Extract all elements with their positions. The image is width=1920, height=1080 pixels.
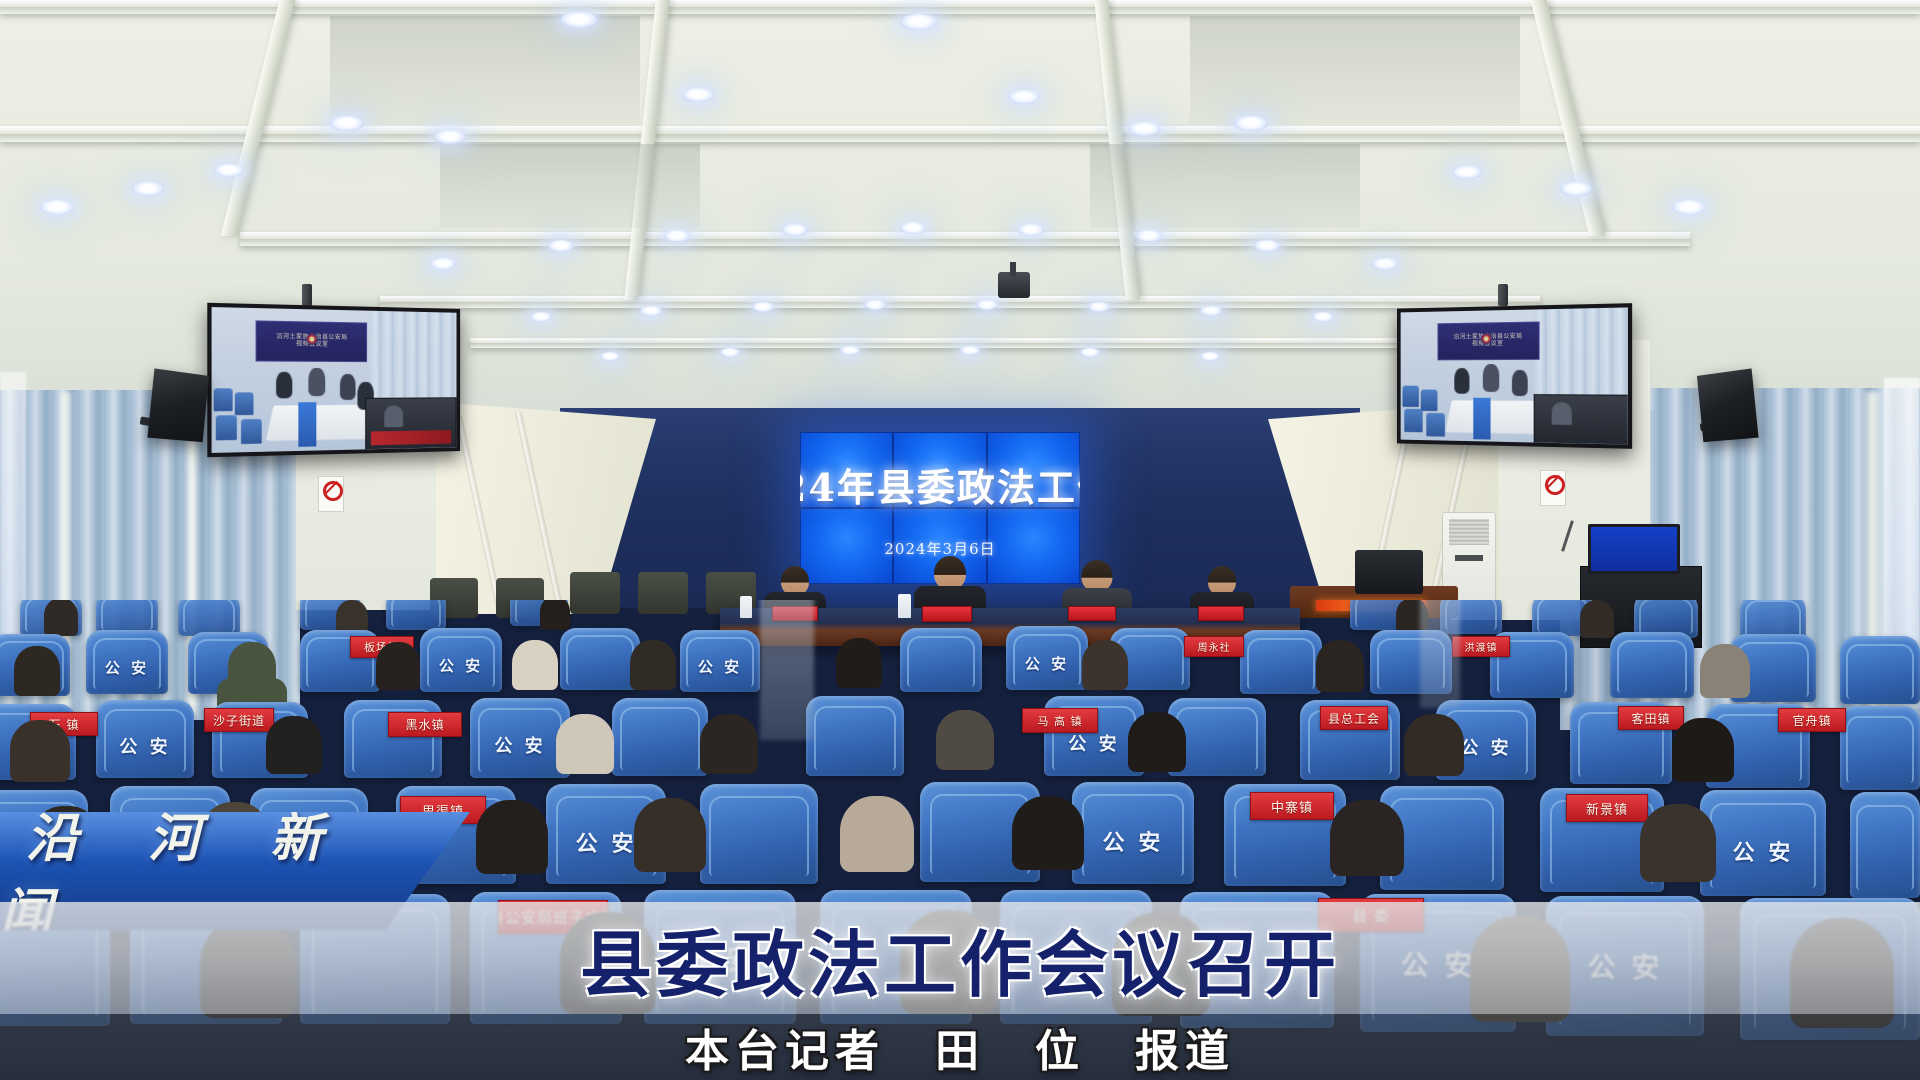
seat-name-card: 沙子街道 [204,708,274,732]
attendee [1700,644,1750,698]
attendee [540,600,570,630]
attendee [1012,796,1084,870]
seat [1840,706,1920,790]
operator-monitor [1588,524,1680,574]
seat [96,600,158,634]
seat-name-card: 周永社 [1184,636,1244,657]
headline-text: 县委政法工作会议召开 [0,902,1920,1014]
led-panel [800,432,893,508]
ceiling-speaker-right [1697,368,1759,442]
led-panel [893,432,986,508]
no-smoking-sign-left [318,476,344,512]
attendee [700,714,758,774]
seat-back-label: 公 安 [96,733,194,759]
seat-name-card: 马 高 镇 [1022,708,1098,733]
attendee [376,642,420,690]
attendee [1580,600,1614,638]
seat: 公 安 [470,698,570,778]
seat-back-label: 公 安 [1072,825,1194,857]
attendee [1082,640,1128,690]
seat-name-card: 新景镇 [1566,794,1648,822]
seat-back-label: 公 安 [1700,835,1826,867]
attendee [228,642,276,694]
seat-back-label: 公 安 [86,657,168,678]
attendee [556,714,614,774]
monitor-left-screen: 沿河土家族自治县公安局 视频会议室 [212,307,457,453]
seat [1240,630,1322,694]
credit-text: 本台记者 田 位 报道 [0,1014,1920,1080]
seat-name-card: 中寨镇 [1250,792,1334,820]
seat-name-card: 洪渡镇 [1452,636,1510,657]
attendee [266,716,322,774]
seat [560,628,640,690]
seat [1840,636,1920,704]
seat-name-card: 黑水镇 [388,712,462,737]
seat-back-label: 公 安 [470,732,570,758]
attendee [1128,712,1186,772]
seat-name-card: 县总工会 [1320,706,1388,730]
seat [612,698,708,776]
attendee [44,600,78,636]
ceiling-monitor-left: 沿河土家族自治县公安局 视频会议室 [207,303,460,457]
monitor-right-screen: 沿河土家族自治县公安局 视频会议室 [1401,307,1628,444]
seat-name-card: 官舟镇 [1778,708,1846,732]
seat [806,696,904,776]
ceiling-speaker-left [147,368,209,442]
seat-back-label: 公 安 [680,656,760,677]
no-smoking-sign-right [1540,470,1566,506]
attendee [14,646,60,696]
seat: 公 安 [680,630,760,692]
attendee [630,640,676,690]
seat-back-label: 公 安 [420,655,502,676]
broadcast-frame: 2024年县委政法工作会 2024年3月6日 沿河土家族自治县公安局 视频会议室 [0,0,1920,1080]
seat [700,784,818,884]
attendee [476,800,548,874]
attendee [10,720,70,782]
attendee [1330,800,1404,876]
seat-back-label: 公 安 [1006,653,1088,674]
headline-band: 县委政法工作会议召开 [0,902,1920,1014]
seat: 公 安 [1700,790,1826,896]
seat: 公 安 [1006,626,1088,690]
projector-mount [1010,262,1016,276]
attendee [1672,718,1734,782]
seat [386,600,446,630]
attendee [840,796,914,872]
podium-monitor [1355,550,1423,594]
seat-name-card: 客田镇 [1618,706,1684,730]
seat [1610,632,1694,698]
seat: 公 安 [420,628,502,692]
seat [1850,792,1920,898]
attendee [512,640,558,690]
seat: 公 安 [1072,782,1194,884]
seat: 公 安 [96,700,194,778]
seat [900,628,982,692]
led-panel [987,432,1080,508]
attendee [936,710,994,770]
ceiling-monitor-right: 沿河土家族自治县公安局 视频会议室 [1397,303,1632,449]
seat: 公 安 [86,630,168,694]
attendee [1316,640,1364,692]
attendee [634,798,706,872]
seat [178,600,240,636]
credit-band: 本台记者 田 位 报道 [0,1014,1920,1080]
attendee [836,638,882,688]
attendee [1640,804,1716,882]
attendee [1404,714,1464,776]
